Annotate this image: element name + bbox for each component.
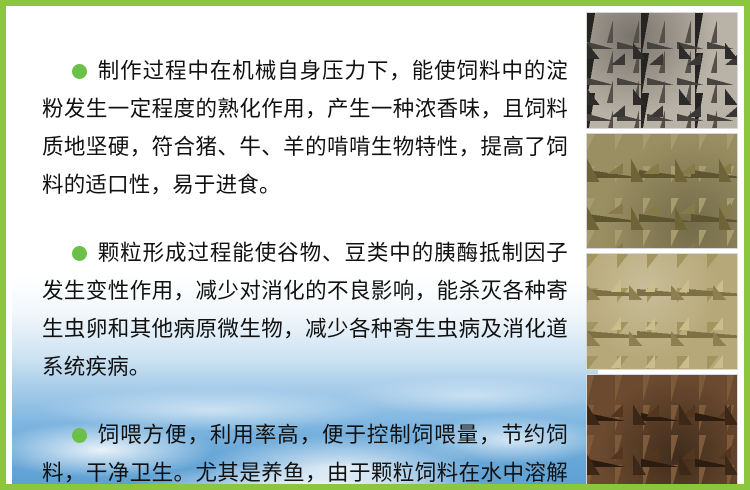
product-photo-dark-brown-pellets (586, 374, 738, 490)
product-photo-dark-grey-pellets (586, 12, 738, 129)
bullet-dot-icon (72, 64, 87, 79)
feature-paragraph-1: 制作过程中在机械自身压力下，能使饲料中的淀粉发生一定程度的熟化作用，产生一种浓香… (42, 52, 568, 204)
pellet-texture (587, 13, 737, 128)
feature-text-3: 饲喂方便，利用率高，便于控制饲喂量，节约饲料，干净卫生。尤其是养鱼，由于颗粒饲料… (42, 423, 568, 490)
paragraph-list: 制作过程中在机械自身压力下，能使饲料中的淀粉发生一定程度的熟化作用，产生一种浓香… (12, 12, 598, 490)
pellet-texture (587, 375, 737, 490)
product-photo-olive-pellets (586, 133, 738, 250)
feature-text-1: 制作过程中在机械自身压力下，能使饲料中的淀粉发生一定程度的熟化作用，产生一种浓香… (42, 59, 568, 197)
feature-paragraph-2: 颗粒形成过程能使谷物、豆类中的胰酶抵制因子发生变性作用，减少对消化的不良影响，能… (42, 234, 568, 386)
bullet-dot-icon (72, 246, 87, 261)
text-panel: 制作过程中在机械自身压力下，能使饲料中的淀粉发生一定程度的熟化作用，产生一种浓香… (12, 12, 598, 490)
pellet-texture (587, 134, 737, 249)
product-description-card: 制作过程中在机械自身压力下，能使饲料中的淀粉发生一定程度的熟化作用，产生一种浓香… (0, 0, 750, 490)
product-photo-strip (586, 12, 738, 490)
feature-paragraph-3: 饲喂方便，利用率高，便于控制饲喂量，节约饲料，干净卫生。尤其是养鱼，由于颗粒饲料… (42, 416, 568, 490)
product-photo-khaki-pellets (586, 253, 738, 370)
feature-text-2: 颗粒形成过程能使谷物、豆类中的胰酶抵制因子发生变性作用，减少对消化的不良影响，能… (42, 241, 568, 379)
pellet-texture (587, 254, 737, 369)
bullet-dot-icon (72, 428, 87, 443)
